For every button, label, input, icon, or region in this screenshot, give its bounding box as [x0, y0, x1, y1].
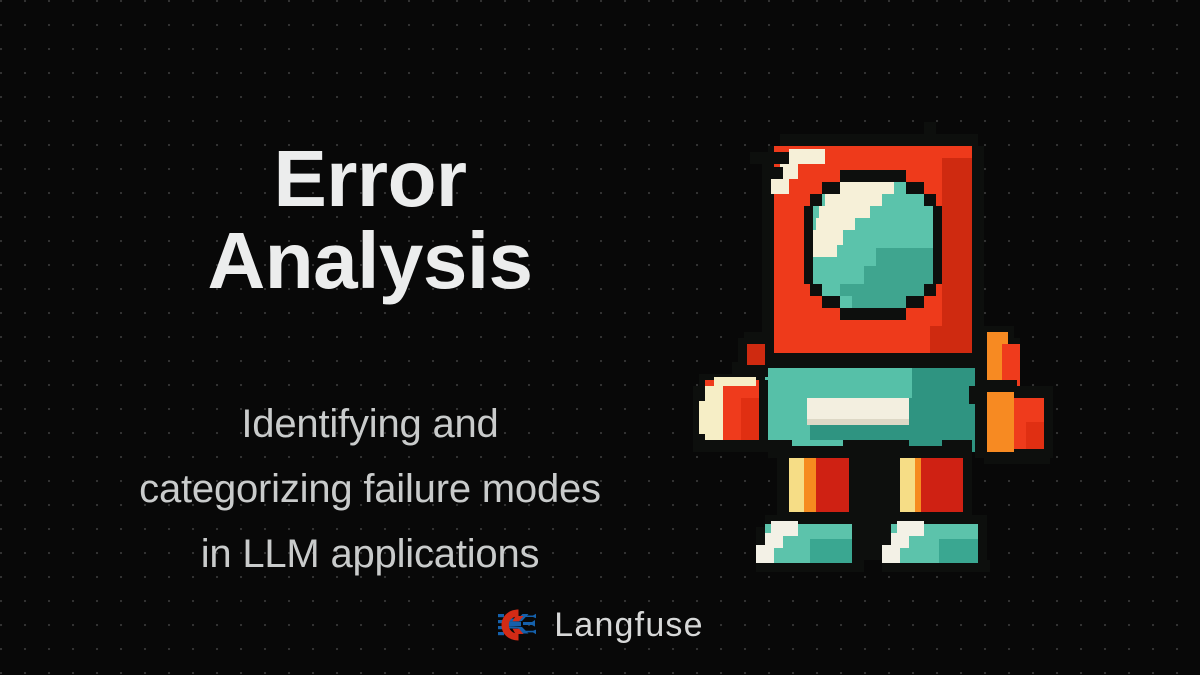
page-subtitle-line-1: Identifying and — [139, 392, 601, 457]
pixel-robot-illustration — [690, 110, 1062, 572]
page-subtitle-line-3: in LLM applications — [139, 522, 601, 587]
text-column: Error Analysis Identifying and categoriz… — [20, 0, 720, 675]
page-subtitle-line-2: categorizing failure modes — [139, 457, 601, 522]
page-title-line-1: Error — [207, 138, 532, 220]
page-title: Error Analysis — [207, 138, 532, 303]
page-title-line-2: Analysis — [207, 220, 532, 302]
page-subtitle: Identifying and categorizing failure mod… — [139, 392, 601, 586]
slide-canvas: Error Analysis Identifying and categoriz… — [0, 0, 1200, 675]
